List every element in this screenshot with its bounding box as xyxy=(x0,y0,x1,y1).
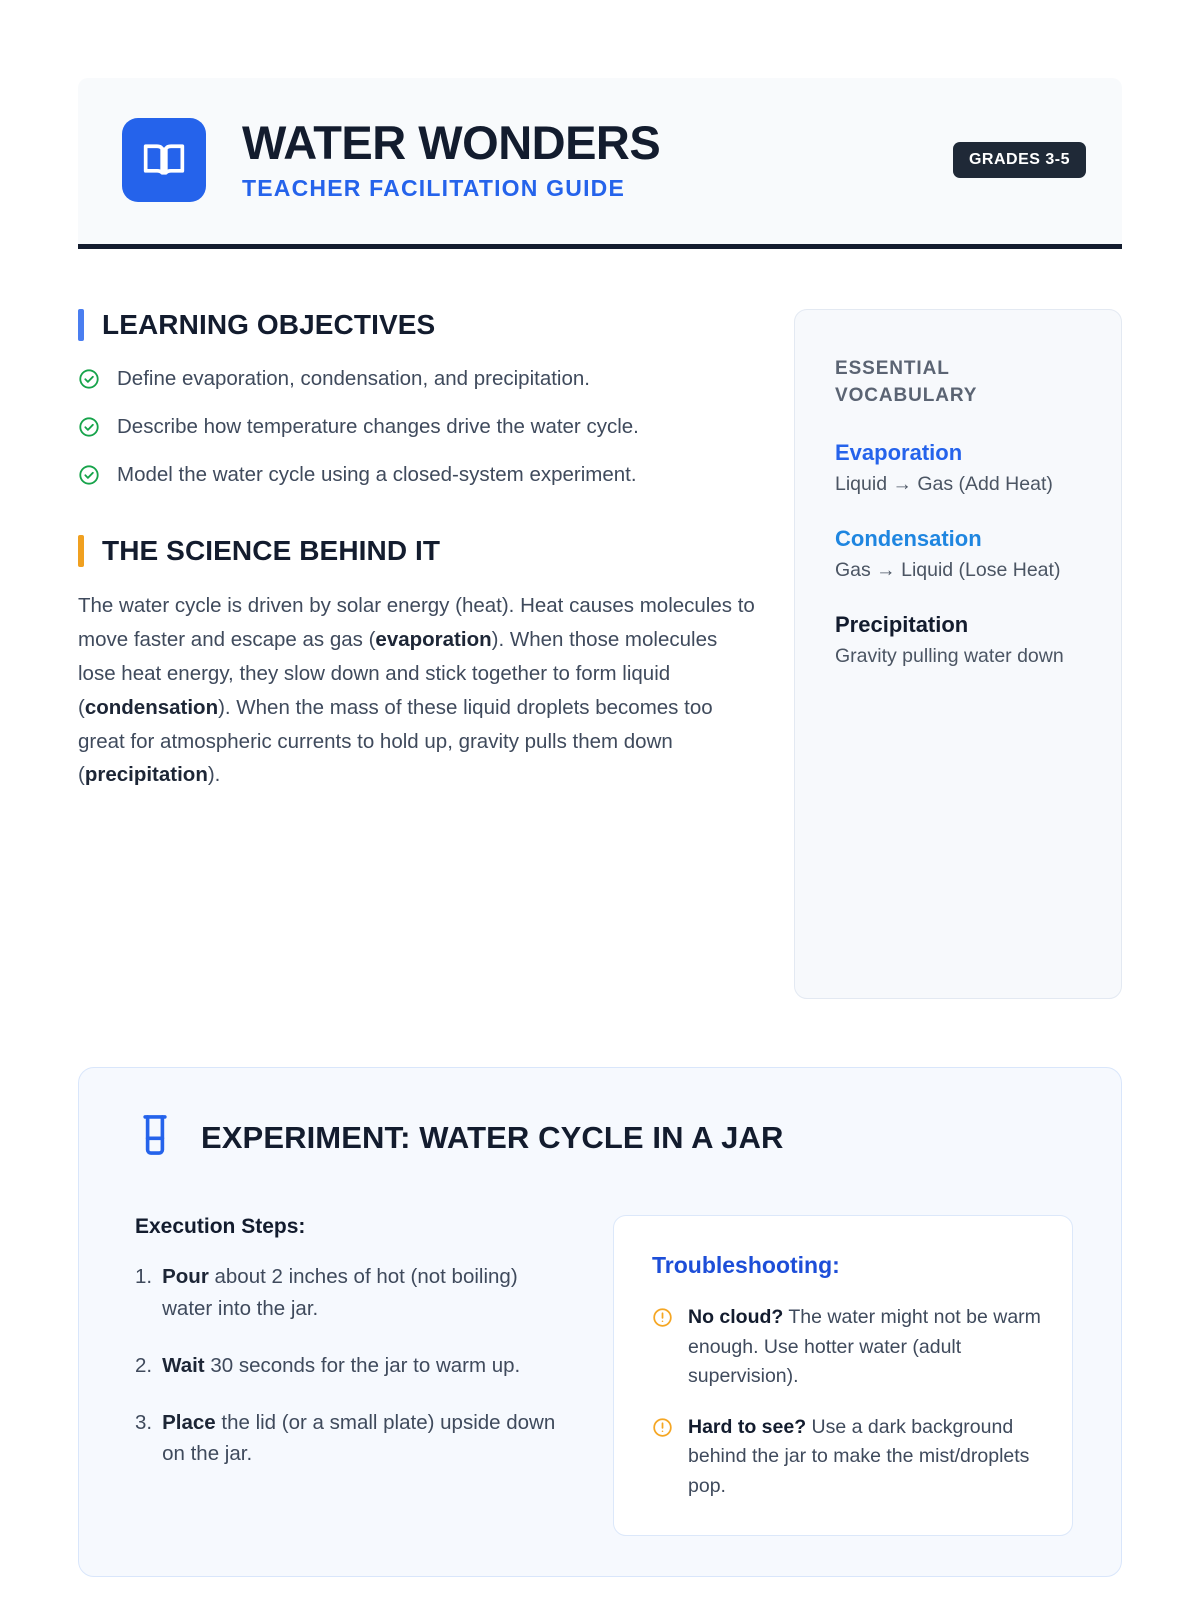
objectives-heading: LEARNING OBJECTIVES xyxy=(102,309,435,341)
list-item: Describe how temperature changes drive t… xyxy=(78,411,758,443)
step-text: Place the lid (or a small plate) upside … xyxy=(162,1407,565,1469)
science-text-4: ). xyxy=(208,763,221,786)
steps-list: Pour about 2 inches of hot (not boiling)… xyxy=(135,1261,565,1469)
steps-label: Execution Steps: xyxy=(135,1215,565,1239)
troubleshooting-text: Hard to see? Use a dark background behin… xyxy=(688,1413,1042,1501)
objectives-list: Define evaporation, condensation, and pr… xyxy=(78,363,758,491)
objective-text: Define evaporation, condensation, and pr… xyxy=(117,363,590,394)
step-lead: Wait xyxy=(162,1354,205,1377)
list-item: No cloud? The water might not be warm en… xyxy=(652,1303,1042,1391)
vocabulary-word: Evaporation xyxy=(835,440,1087,466)
experiment-title: EXPERIMENT: WATER CYCLE IN A JAR xyxy=(201,1120,783,1156)
page-title: WATER WONDERS xyxy=(242,118,953,167)
guide-page: WATER WONDERS TEACHER FACILITATION GUIDE… xyxy=(0,0,1200,1600)
vocabulary-panel: ESSENTIAL VOCABULARY Evaporation Liquid … xyxy=(794,309,1122,999)
science-heading: THE SCIENCE BEHIND IT xyxy=(102,535,440,567)
vocabulary-definition: Gravity pulling water down xyxy=(835,642,1087,671)
troubleshooting-panel: Troubleshooting: No cloud? The water mig… xyxy=(613,1215,1073,1536)
list-item: Place the lid (or a small plate) upside … xyxy=(135,1407,565,1469)
vocabulary-definition: Gas → Liquid (Lose Heat) xyxy=(835,556,1087,585)
step-lead: Place xyxy=(162,1411,216,1434)
section-accent-bar xyxy=(78,535,84,567)
side-column: ESSENTIAL VOCABULARY Evaporation Liquid … xyxy=(794,309,1122,999)
objective-text: Describe how temperature changes drive t… xyxy=(117,411,639,442)
section-accent-bar xyxy=(78,309,84,341)
list-item: Wait 30 seconds for the jar to warm up. xyxy=(135,1350,565,1381)
step-lead: Pour xyxy=(162,1265,209,1288)
list-item: Pour about 2 inches of hot (not boiling)… xyxy=(135,1261,565,1323)
troubleshooting-lead: No cloud? xyxy=(688,1306,783,1328)
troubleshooting-lead: Hard to see? xyxy=(688,1416,806,1438)
header-titles: WATER WONDERS TEACHER FACILITATION GUIDE xyxy=(242,118,953,202)
step-rest: about 2 inches of hot (not boiling) wate… xyxy=(162,1265,518,1319)
alert-circle-icon xyxy=(652,1307,673,1333)
vocabulary-entry: Evaporation Liquid → Gas (Add Heat) xyxy=(835,440,1087,499)
vocabulary-entry: Condensation Gas → Liquid (Lose Heat) xyxy=(835,526,1087,585)
step-rest: 30 seconds for the jar to warm up. xyxy=(205,1354,521,1377)
beaker-icon xyxy=(135,1112,175,1163)
execution-steps-column: Execution Steps: Pour about 2 inches of … xyxy=(135,1215,565,1495)
check-circle-icon xyxy=(78,416,100,443)
learning-objectives-section: LEARNING OBJECTIVES Define evaporation, … xyxy=(78,309,758,491)
objective-text: Model the water cycle using a closed-sys… xyxy=(117,459,637,490)
document-header: WATER WONDERS TEACHER FACILITATION GUIDE… xyxy=(78,78,1122,249)
vocabulary-word: Condensation xyxy=(835,526,1087,552)
step-text: Wait 30 seconds for the jar to warm up. xyxy=(162,1350,520,1381)
list-item: Define evaporation, condensation, and pr… xyxy=(78,363,758,395)
troubleshooting-text: No cloud? The water might not be warm en… xyxy=(688,1303,1042,1391)
troubleshooting-column: Troubleshooting: No cloud? The water mig… xyxy=(613,1215,1073,1536)
science-paragraph: The water cycle is driven by solar energ… xyxy=(78,589,758,792)
science-section: THE SCIENCE BEHIND IT The water cycle is… xyxy=(78,535,758,792)
experiment-columns: Execution Steps: Pour about 2 inches of … xyxy=(135,1215,1073,1536)
experiment-card: EXPERIMENT: WATER CYCLE IN A JAR Executi… xyxy=(78,1067,1122,1577)
list-item: Hard to see? Use a dark background behin… xyxy=(652,1413,1042,1501)
step-rest: the lid (or a small plate) upside down o… xyxy=(162,1411,555,1465)
vocabulary-heading: ESSENTIAL VOCABULARY xyxy=(835,356,1087,410)
grade-badge: GRADES 3-5 xyxy=(953,142,1086,178)
page-subtitle: TEACHER FACILITATION GUIDE xyxy=(242,175,953,202)
science-term-evaporation: evaporation xyxy=(375,628,491,651)
content-grid: LEARNING OBJECTIVES Define evaporation, … xyxy=(78,309,1122,999)
experiment-heading-row: EXPERIMENT: WATER CYCLE IN A JAR xyxy=(135,1112,1073,1163)
vocabulary-word: Precipitation xyxy=(835,612,1087,638)
troubleshooting-title: Troubleshooting: xyxy=(652,1252,1042,1279)
check-circle-icon xyxy=(78,464,100,491)
check-circle-icon xyxy=(78,368,100,395)
open-book-icon xyxy=(122,118,206,202)
main-column: LEARNING OBJECTIVES Define evaporation, … xyxy=(78,309,758,792)
objectives-heading-row: LEARNING OBJECTIVES xyxy=(78,309,758,341)
vocabulary-entry: Precipitation Gravity pulling water down xyxy=(835,612,1087,671)
vocabulary-definition: Liquid → Gas (Add Heat) xyxy=(835,470,1087,499)
science-heading-row: THE SCIENCE BEHIND IT xyxy=(78,535,758,567)
alert-circle-icon xyxy=(652,1417,673,1443)
science-term-condensation: condensation xyxy=(85,696,218,719)
step-text: Pour about 2 inches of hot (not boiling)… xyxy=(162,1261,565,1323)
list-item: Model the water cycle using a closed-sys… xyxy=(78,459,758,491)
science-term-precipitation: precipitation xyxy=(85,763,208,786)
